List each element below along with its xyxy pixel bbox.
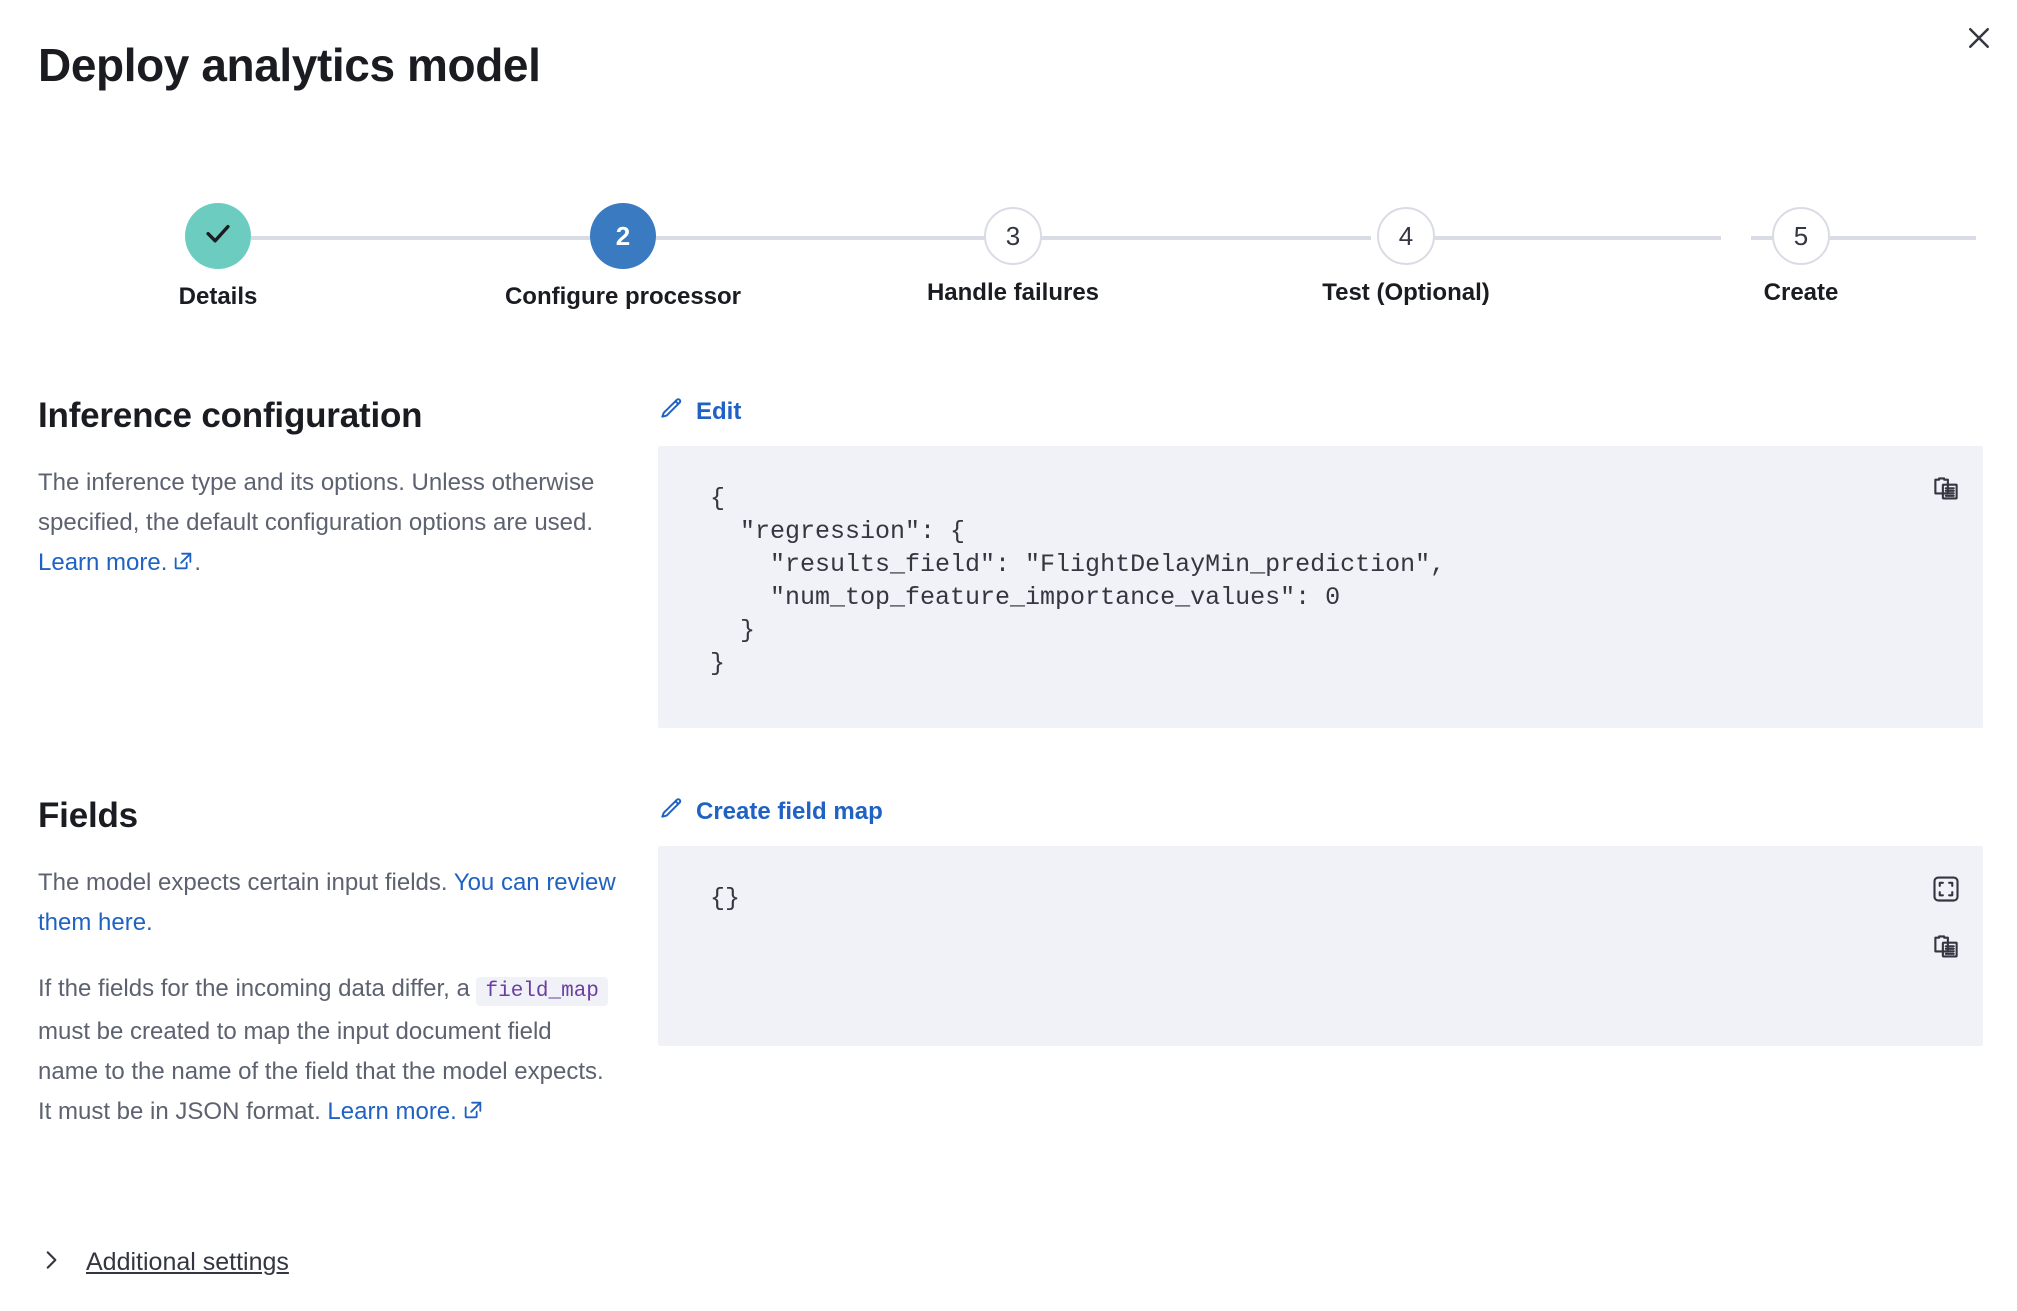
inference-code-content: { "regression": { "results_field": "Flig… <box>710 482 1903 680</box>
page-title: Deploy analytics model <box>38 38 540 92</box>
step-circle-5: 5 <box>1772 207 1830 265</box>
field-map-code-content: {} <box>710 882 1903 915</box>
close-button[interactable] <box>1955 14 2003 62</box>
step-label-3: Handle failures <box>893 279 1133 307</box>
inference-description-text: The inference type and its options. Unle… <box>38 469 594 536</box>
fields-para2-lead: If the fields for the incoming data diff… <box>38 975 476 1002</box>
fields-code-column: Create field map {} <box>658 795 1983 1046</box>
external-link-icon <box>172 545 194 585</box>
copy-inference-button[interactable] <box>1931 474 1961 504</box>
step-label-5: Create <box>1681 279 1921 307</box>
additional-settings-accordion[interactable]: Additional settings <box>38 1247 289 1278</box>
fields-learn-more-label: Learn more. <box>327 1098 456 1125</box>
fields-heading: Fields <box>38 795 618 837</box>
inference-learn-more-label: Learn more. <box>38 549 167 576</box>
copy-icon <box>1931 950 1961 965</box>
inference-description-column: Inference configuration The inference ty… <box>38 395 618 585</box>
inference-heading: Inference configuration <box>38 395 618 437</box>
expand-field-map-button[interactable] <box>1931 874 1961 904</box>
fields-description-column: Fields The model expects certain input f… <box>38 795 618 1134</box>
expand-icon <box>1931 892 1961 907</box>
fields-para2-body: must be created to map the input documen… <box>38 1018 604 1125</box>
field-map-code-actions <box>1931 874 1961 962</box>
additional-settings-label: Additional settings <box>86 1248 289 1277</box>
step-circle-1 <box>185 203 251 269</box>
stepper: Details 2 Configure processor 3 Handle f… <box>38 190 1978 300</box>
step-circle-3: 3 <box>984 207 1042 265</box>
pencil-icon <box>658 795 684 828</box>
step-circle-4: 4 <box>1377 207 1435 265</box>
pencil-icon <box>658 395 684 428</box>
stepper-step-configure-processor[interactable]: 2 Configure processor <box>503 190 743 311</box>
inference-description-trailing: . <box>194 549 201 576</box>
copy-icon <box>1931 492 1961 507</box>
create-field-map-label: Create field map <box>696 798 883 826</box>
field-map-code-chip: field_map <box>476 977 607 1006</box>
inference-description: The inference type and its options. Unle… <box>38 463 618 585</box>
fields-field-map-description: If the fields for the incoming data diff… <box>38 969 618 1134</box>
step-circle-2: 2 <box>590 203 656 269</box>
inference-code-column: Edit { "regression": { "results_field": … <box>658 395 1983 728</box>
fields-description: The model expects certain input fields. … <box>38 863 618 943</box>
inference-learn-more-link[interactable]: Learn more. <box>38 549 194 576</box>
fields-learn-more-link[interactable]: Learn more. <box>327 1098 483 1125</box>
step-label-2: Configure processor <box>503 283 743 311</box>
step-label-1: Details <box>98 283 338 311</box>
external-link-icon <box>462 1094 484 1134</box>
stepper-step-create[interactable]: 5 Create <box>1681 190 1921 307</box>
inference-code-block: { "regression": { "results_field": "Flig… <box>658 446 1983 728</box>
chevron-right-icon <box>38 1247 64 1278</box>
inference-code-actions <box>1931 474 1961 504</box>
edit-inference-label: Edit <box>696 398 741 426</box>
field-map-code-block: {} <box>658 846 1983 1046</box>
stepper-step-test[interactable]: 4 Test (Optional) <box>1286 190 1526 307</box>
step-label-4: Test (Optional) <box>1286 279 1526 307</box>
stepper-step-handle-failures[interactable]: 3 Handle failures <box>893 190 1133 307</box>
stepper-step-details[interactable]: Details <box>98 190 338 311</box>
edit-inference-link[interactable]: Edit <box>658 395 741 428</box>
create-field-map-link[interactable]: Create field map <box>658 795 883 828</box>
close-icon <box>1964 23 1994 53</box>
fields-description-text: The model expects certain input fields. <box>38 869 454 896</box>
check-icon <box>201 216 235 257</box>
copy-field-map-button[interactable] <box>1931 932 1961 962</box>
